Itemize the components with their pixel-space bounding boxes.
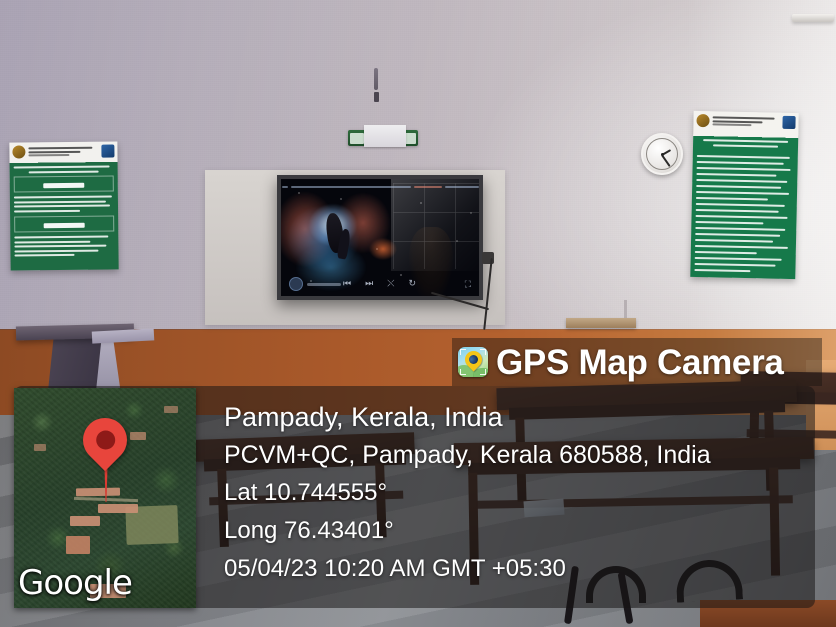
poster-header-text xyxy=(712,117,779,127)
clock-hour-hand xyxy=(662,149,672,156)
map-building xyxy=(130,432,146,440)
wall-mounted-tv: ⏮ ⏭ ⤬ ↻ ⛶ xyxy=(277,175,483,300)
accreditation-logo-icon xyxy=(101,144,114,157)
college-emblem-icon xyxy=(12,145,25,158)
previous-icon[interactable]: ⏮ xyxy=(343,278,352,289)
shuffle-icon[interactable]: ⤬ xyxy=(387,278,395,289)
tv-screen: ⏮ ⏭ ⤬ ↻ ⛶ xyxy=(281,179,479,296)
longitude-value: Long 76.43401° xyxy=(224,512,815,550)
media-title-bar xyxy=(281,183,479,191)
shelf-support xyxy=(624,300,627,320)
map-building xyxy=(70,516,100,526)
map-building xyxy=(164,406,178,413)
location-place: Pampady, Kerala, India xyxy=(224,398,815,436)
map-building xyxy=(98,504,138,513)
latitude-value: Lat 10.744555° xyxy=(224,474,815,512)
poster-subtitle xyxy=(697,139,794,148)
wall-clock xyxy=(641,133,683,175)
map-thumbnail[interactable]: Google xyxy=(14,388,196,608)
poster-header-text xyxy=(28,147,98,156)
map-building xyxy=(34,444,46,451)
poster-header xyxy=(9,141,117,161)
google-watermark: Google xyxy=(18,566,132,600)
wall-shelf xyxy=(566,318,636,328)
paper-notice xyxy=(364,125,406,147)
college-emblem-icon xyxy=(696,114,709,127)
gps-map-camera-app-icon xyxy=(458,347,488,377)
poster-intro xyxy=(14,165,114,173)
poster-header xyxy=(693,111,798,132)
accreditation-logo-icon xyxy=(782,116,795,129)
media-controls: ⏮ ⏭ ⤬ ↻ xyxy=(281,276,479,290)
app-title: GPS Map Camera xyxy=(496,345,784,380)
ceiling-hook-icon xyxy=(374,68,378,90)
clock-center-pin xyxy=(661,153,664,156)
poster-list xyxy=(694,155,793,273)
poster-vision-body xyxy=(14,195,114,212)
location-address: PCVM+QC, Pampady, Kerala 680588, India xyxy=(224,436,815,474)
clock-minute-hand xyxy=(661,154,670,166)
gps-title-bar: GPS Map Camera xyxy=(452,338,822,386)
gps-map-camera-photo: ⏮ ⏭ ⤬ ↻ ⛶ xyxy=(0,0,836,627)
exit-running-man-icon xyxy=(350,133,364,144)
gps-info-lines: Pampady, Kerala, India PCVM+QC, Pampady,… xyxy=(210,386,815,608)
ceiling-hook-weight-icon xyxy=(374,92,379,102)
timestamp-value: 05/04/23 10:20 AM GMT +05:30 xyxy=(224,550,815,588)
window-glare-grid xyxy=(393,183,479,269)
vision-mission-poster xyxy=(9,141,118,270)
fullscreen-icon[interactable]: ⛶ xyxy=(465,279,471,290)
poster-mission-body xyxy=(14,235,114,256)
next-icon[interactable]: ⏭ xyxy=(365,278,374,289)
map-building xyxy=(76,488,120,497)
rotate-icon[interactable]: ↻ xyxy=(408,278,417,289)
notice-poster xyxy=(690,111,798,279)
wall-bracket xyxy=(792,14,834,22)
map-building xyxy=(66,536,90,554)
